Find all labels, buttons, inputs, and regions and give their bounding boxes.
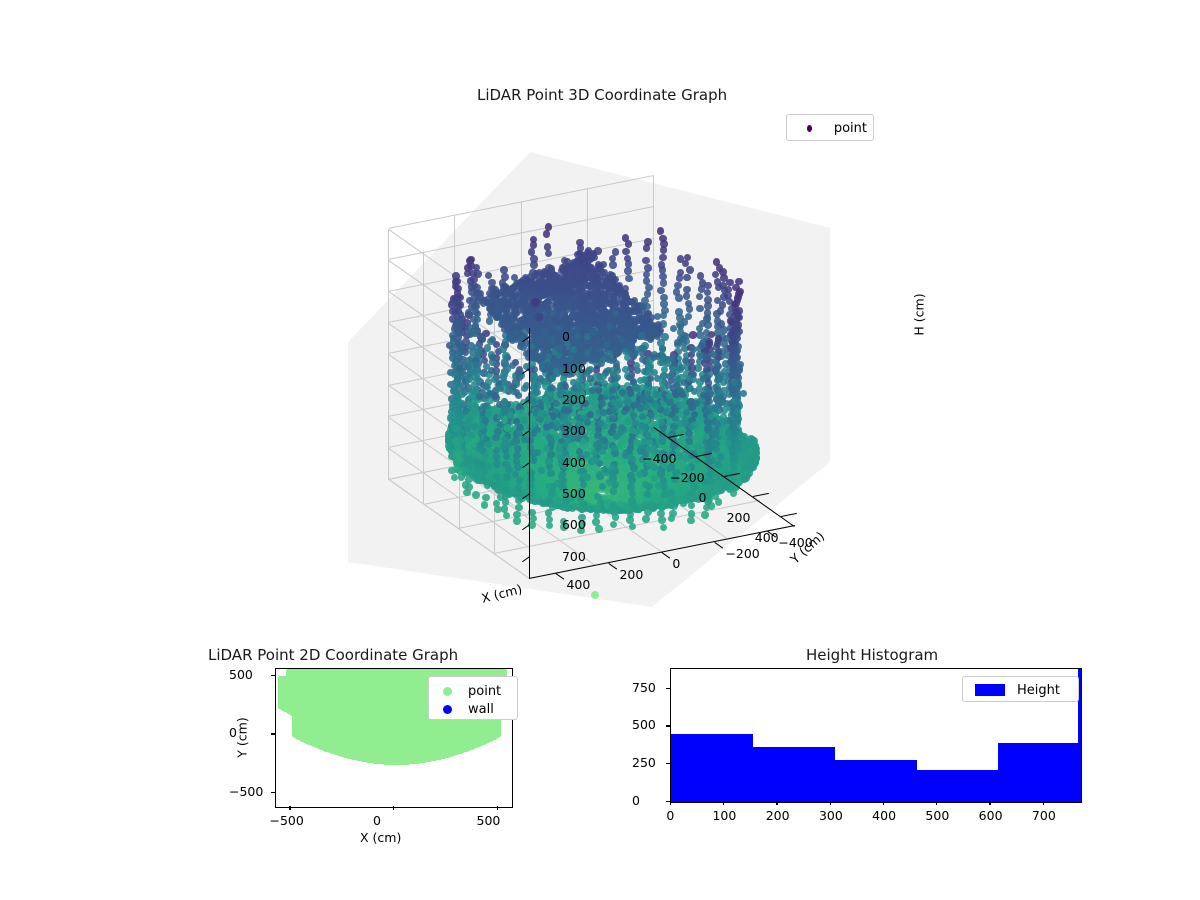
scatter-point-3d: [683, 292, 691, 300]
scatter-point-3d: [451, 425, 459, 433]
scatter-point-3d: [548, 489, 556, 497]
scatter-point-3d: [696, 293, 704, 301]
scatter-point-3d: [547, 470, 555, 478]
scatter-point-3d: [687, 517, 695, 525]
scatter-point-3d: [619, 436, 626, 443]
scatter-point-3d: [513, 517, 521, 525]
plot3d-axes[interactable]: [330, 110, 950, 630]
scatter-point-3d: [452, 437, 460, 445]
scatter-point-3d: [689, 331, 697, 339]
scatter-point-3d: [701, 511, 709, 519]
scatter-point-3d: [475, 470, 483, 478]
scatter-point-3d: [493, 460, 501, 468]
scatter-point-3d: [500, 266, 508, 274]
scatter-point-3d: [453, 465, 461, 473]
scatter-point-3d: [696, 305, 704, 313]
scatter-point-3d: [643, 244, 651, 252]
scatter-point-3d: [628, 497, 636, 505]
scatter-point-3d: [660, 279, 668, 287]
scatter-point-3d: [730, 489, 738, 497]
scatter-point-3d: [642, 257, 650, 265]
scatter-point-3d: [688, 502, 696, 510]
plot3d-title: LiDAR Point 3D Coordinate Graph: [477, 86, 727, 104]
scatter-point-3d: [543, 230, 551, 238]
scatter-point-3d: [471, 402, 479, 410]
scatter-point-3d: [717, 453, 725, 461]
scatter-point-3d: [732, 300, 740, 308]
scatter-point-3d: [609, 261, 617, 269]
scatter-point-3d: [472, 491, 480, 499]
scatter-point-3d: [474, 270, 482, 278]
scatter-point-3d: [657, 287, 665, 295]
scatter-point-3d: [486, 317, 494, 325]
scatter-point-3d: [504, 424, 512, 432]
scatter-point-3d: [686, 437, 694, 445]
scatter-point-3d: [686, 305, 694, 313]
scatter-point-3d: [625, 240, 633, 248]
scatter-point-3d: [610, 487, 618, 495]
scatter-point-3d: [500, 283, 507, 290]
scatter-point-3d: [481, 501, 489, 509]
scatter-point-3d: [452, 278, 460, 286]
scatter-point-3d: [463, 489, 471, 497]
scatter-point-3d: [714, 340, 722, 348]
scatter-point-3d: [685, 430, 693, 438]
scatter-point-3d: [675, 294, 683, 302]
scatter-point-3d: [515, 484, 523, 492]
scatter-point-3d: [482, 494, 490, 502]
scatter-point-3d: [462, 481, 470, 489]
scatter-point-3d: [624, 267, 632, 275]
scatter-point-3d: [670, 502, 678, 510]
scatter-point-3d: [658, 516, 666, 524]
scatter-point-3d: [642, 515, 650, 523]
scatter-point-3d: [727, 358, 735, 366]
scatter-point-3d: [476, 445, 484, 453]
scatter-point-3d: [530, 456, 538, 464]
scatter-point-3d: [503, 473, 511, 481]
scatter-point-3d: [595, 525, 603, 533]
scatter-point-3d: [455, 456, 463, 464]
scatter-point-3d: [625, 275, 633, 283]
matplotlib-figure: LiDAR Point 3D Coordinate Graph point 01…: [0, 0, 1200, 900]
scatter-point-3d: [496, 479, 504, 487]
scatter-point-3d: [660, 246, 668, 254]
scatter-point-3d: [494, 506, 502, 514]
scatter-point-3d: [644, 490, 652, 498]
scatter-point-3d: [683, 274, 691, 282]
scatter-point-3d: [659, 254, 667, 262]
scatter-point-3d: [530, 261, 538, 269]
scatter-point-3d: [686, 266, 694, 274]
scatter-point-3d: [744, 450, 751, 457]
